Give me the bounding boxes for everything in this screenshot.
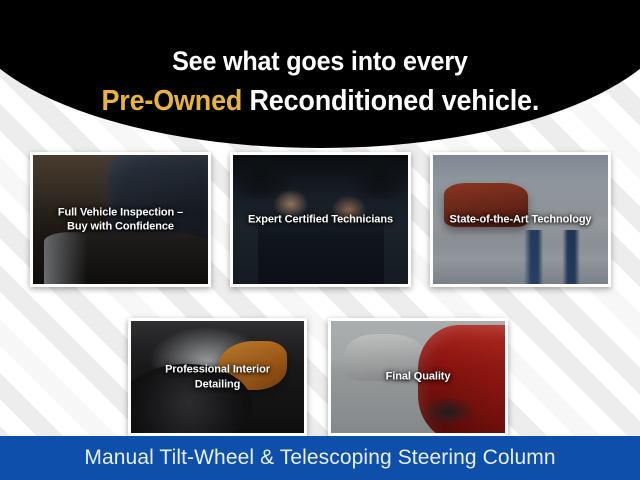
card-final-quality[interactable]: Final Quality — [328, 318, 508, 436]
card-expert-certified-technicians[interactable]: Expert Certified Technicians — [230, 152, 411, 287]
headline-line-2-rest: Reconditioned vehicle. — [242, 85, 539, 117]
card-label-line-2: Buy with Confidence — [38, 220, 203, 235]
card-label-line-2: Detailing — [136, 377, 299, 392]
card-label-line-1: Professional Interior — [136, 362, 299, 377]
card-state-of-the-art-technology[interactable]: State-of-the-Art Technology — [430, 152, 611, 287]
headline-line-1: See what goes into every — [172, 44, 468, 79]
card-label-full-vehicle-inspection: Full Vehicle Inspection – Buy with Confi… — [33, 205, 208, 234]
card-label-state-of-the-art-technology: State-of-the-Art Technology — [433, 212, 608, 227]
card-label-line-1: State-of-the-Art Technology — [438, 212, 603, 227]
card-full-vehicle-inspection[interactable]: Full Vehicle Inspection – Buy with Confi… — [30, 152, 211, 287]
card-label-final-quality: Final Quality — [331, 370, 505, 385]
card-professional-interior-detailing[interactable]: Professional Interior Detailing — [128, 318, 307, 436]
headline-highlight-pre-owned: Pre-Owned — [101, 85, 242, 117]
headline-line-2: Pre-Owned Reconditioned vehicle. — [101, 83, 539, 120]
caption-text: Manual Tilt-Wheel & Telescoping Steering… — [84, 446, 555, 470]
header-panel: See what goes into every Pre-Owned Recon… — [0, 0, 640, 148]
card-label-expert-certified-technicians: Expert Certified Technicians — [233, 212, 408, 227]
vehicle-reconditioning-banner: See what goes into every Pre-Owned Recon… — [0, 0, 640, 480]
card-label-line-1: Full Vehicle Inspection – — [38, 205, 203, 220]
card-label-professional-interior-detailing: Professional Interior Detailing — [131, 362, 304, 391]
caption-bar: Manual Tilt-Wheel & Telescoping Steering… — [0, 436, 640, 480]
card-label-line-1: Expert Certified Technicians — [238, 212, 403, 227]
header-content: See what goes into every Pre-Owned Recon… — [0, 0, 640, 148]
card-label-line-1: Final Quality — [336, 370, 500, 385]
